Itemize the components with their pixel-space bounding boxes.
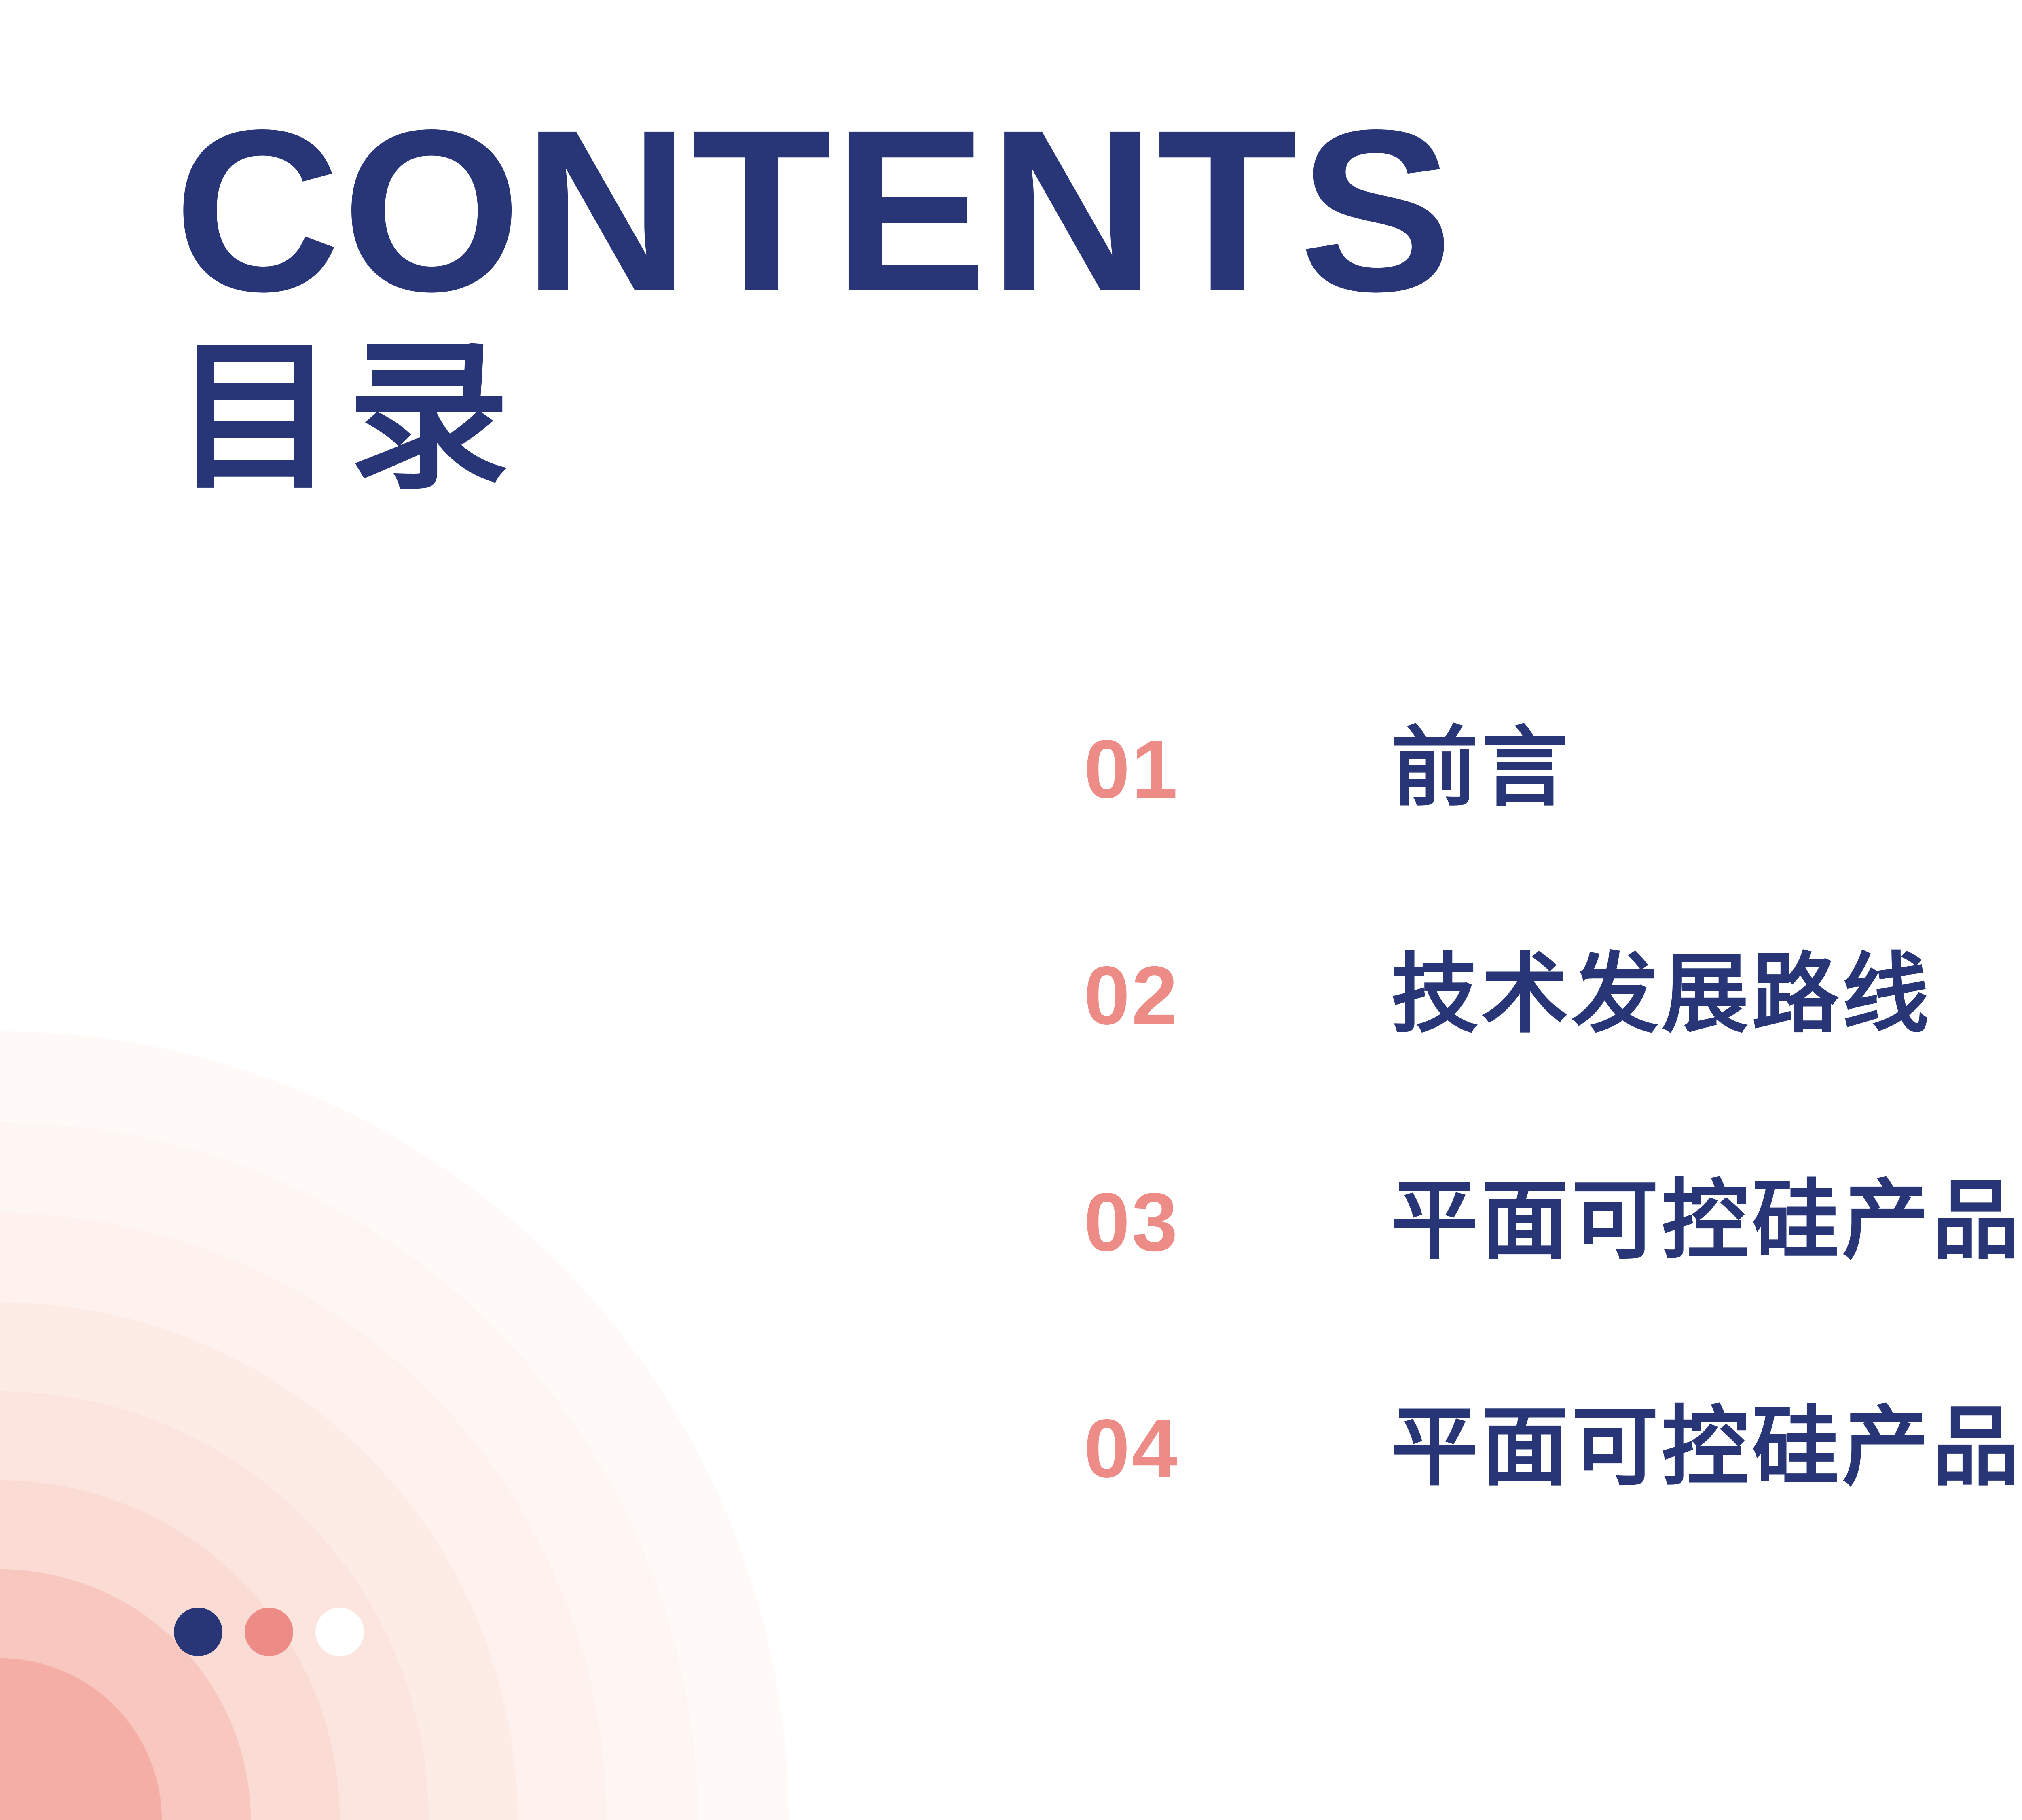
dot-indicator-group (174, 1608, 364, 1656)
dot-navy[interactable] (174, 1608, 222, 1656)
dot-white[interactable] (315, 1608, 364, 1656)
toc-item-number: 01 (1084, 728, 1391, 811)
table-of-contents: 01前言02技术发展路线03平面可控硅产品特点及优势04平面可控硅产品目录 (1084, 724, 2022, 1630)
toc-item-label: 技术发展路线 (1391, 950, 1932, 1037)
decorative-ring-7 (0, 1569, 251, 1820)
page-title-english: CONTENTS (174, 101, 1455, 320)
toc-row[interactable]: 04平面可控硅产品目录 (1084, 1403, 2022, 1630)
title-block: CONTENTS 目录 (174, 101, 1455, 510)
decorative-ring-5 (0, 1391, 429, 1820)
decorative-ring-8 (0, 1658, 162, 1820)
toc-item-number: 03 (1084, 1181, 1391, 1263)
decorative-ring-3 (0, 1213, 607, 1820)
page-title-chinese: 目录 (174, 324, 1455, 510)
toc-item-label: 平面可控硅产品特点及优势 (1391, 1177, 2022, 1264)
toc-item-label: 前言 (1391, 724, 1571, 811)
decorative-ring-1 (0, 1031, 789, 1820)
toc-item-number: 02 (1084, 954, 1391, 1037)
toc-item-label: 平面可控硅产品目录 (1391, 1403, 2022, 1490)
decorative-ring-4 (0, 1302, 518, 1820)
toc-row[interactable]: 03平面可控硅产品特点及优势 (1084, 1177, 2022, 1403)
toc-item-number: 04 (1084, 1407, 1391, 1490)
toc-row[interactable]: 02技术发展路线 (1084, 950, 2022, 1177)
toc-row[interactable]: 01前言 (1084, 724, 2022, 950)
contents-slide: CONTENTS 目录 01前言02技术发展路线03平面可控硅产品特点及优势04… (0, 0, 2022, 1820)
dot-salmon[interactable] (245, 1608, 293, 1656)
decorative-ring-2 (0, 1122, 698, 1820)
